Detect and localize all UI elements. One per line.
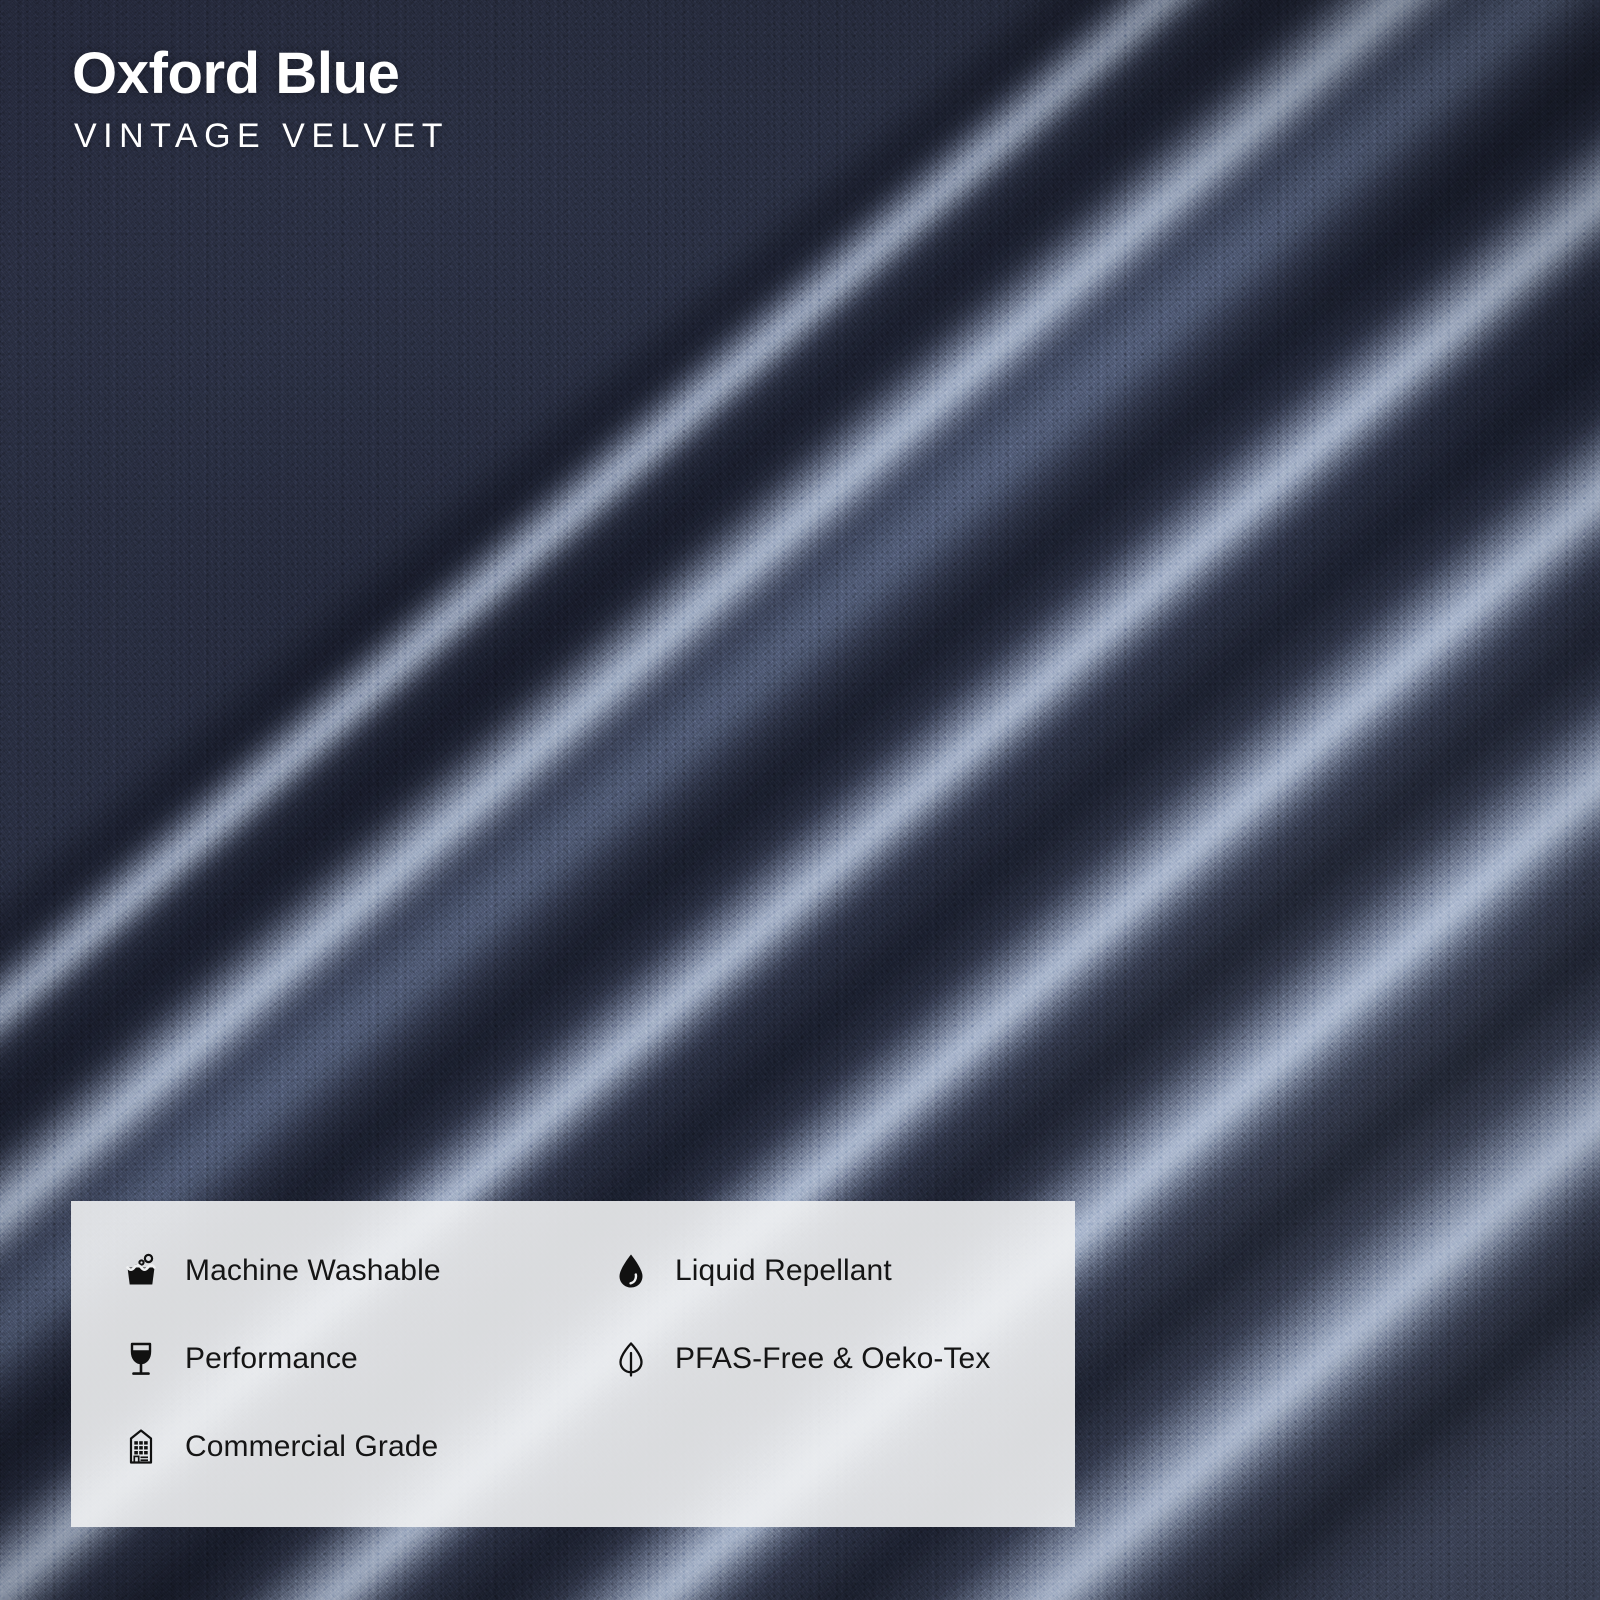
feature-label: Commercial Grade bbox=[185, 1430, 438, 1464]
title-block: Oxford Blue VINTAGE VELVET bbox=[72, 44, 449, 153]
water-droplet-icon bbox=[609, 1249, 653, 1293]
feature-panel: Machine Washable Liquid Repellant bbox=[71, 1201, 1075, 1527]
wine-glass-icon bbox=[119, 1337, 163, 1381]
feature-item-commercial-grade: Commercial Grade bbox=[119, 1403, 609, 1491]
feature-label: PFAS-Free & Oeko-Tex bbox=[675, 1342, 990, 1376]
washing-tub-icon bbox=[119, 1249, 163, 1293]
feature-item-machine-washable: Machine Washable bbox=[119, 1227, 609, 1315]
feature-item-pfas-free-oeko-tex: PFAS-Free & Oeko-Tex bbox=[609, 1315, 1099, 1403]
leaf-icon bbox=[609, 1337, 653, 1381]
feature-label: Liquid Repellant bbox=[675, 1254, 892, 1288]
building-icon bbox=[119, 1425, 163, 1469]
feature-item-liquid-repellant: Liquid Repellant bbox=[609, 1227, 1099, 1315]
feature-grid: Machine Washable Liquid Repellant bbox=[71, 1227, 1075, 1491]
feature-label: Performance bbox=[185, 1342, 358, 1376]
feature-label: Machine Washable bbox=[185, 1254, 441, 1288]
feature-item-performance: Performance bbox=[119, 1315, 609, 1403]
product-swatch-image: Oxford Blue VINTAGE VELVET Machine Washa… bbox=[0, 0, 1600, 1600]
page-subtitle: VINTAGE VELVET bbox=[74, 119, 449, 153]
page-title: Oxford Blue bbox=[72, 44, 449, 105]
